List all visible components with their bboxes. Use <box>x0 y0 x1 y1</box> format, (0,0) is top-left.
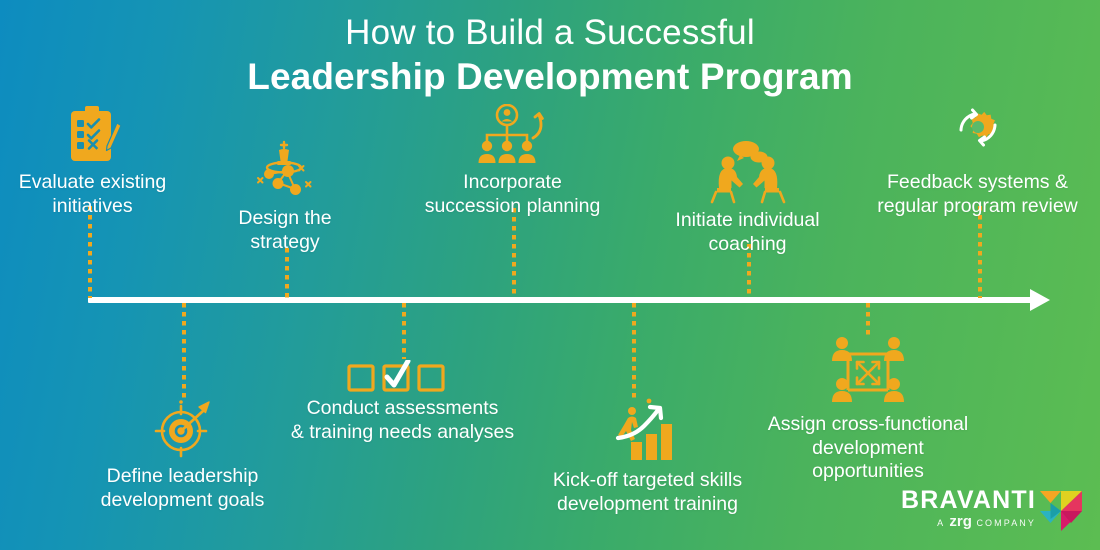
step-label: Design the strategy <box>195 207 375 254</box>
step-label: Kick-off targeted skills development tra… <box>540 469 755 516</box>
step-incorporate-succession-planning: Incorporate succession planning <box>415 104 610 218</box>
arrow-right-icon <box>1030 289 1050 311</box>
connector-step-5 <box>512 208 516 298</box>
logo-tagline-post: COMPANY <box>972 518 1036 528</box>
logo-tagline-pre: A <box>937 518 949 528</box>
step-evaluate-existing-initiatives: Evaluate existing initiatives <box>0 104 185 218</box>
connector-step-1 <box>88 206 92 298</box>
connector-step-6 <box>632 303 636 399</box>
step-design-the-strategy: Design the strategy <box>195 140 375 254</box>
logo-tagline: A zrg COMPANY <box>901 515 1036 530</box>
clipboard-checklist-icon <box>0 104 185 166</box>
growth-chart-person-icon <box>540 398 755 464</box>
step-conduct-assessments: Conduct assessments & training needs ana… <box>290 360 515 444</box>
step-label: Initiate individual coaching <box>660 209 835 256</box>
org-chart-succession-icon <box>415 104 610 166</box>
connector-step-2 <box>182 303 186 401</box>
step-kickoff-skills-training: Kick-off targeted skills development tra… <box>540 398 755 516</box>
gear-cycle-arrows-icon <box>870 104 1085 166</box>
logo-tagline-brand: zrg <box>949 513 972 530</box>
chess-king-strategy-icon <box>195 140 375 202</box>
bravanti-logo: BRAVANTI A zrg COMPANY <box>901 487 1084 538</box>
step-feedback-systems-program-review: Feedback systems & regular program revie… <box>870 104 1085 218</box>
page-title: How to Build a Successful Leadership Dev… <box>0 12 1100 99</box>
cross-functional-team-icon <box>758 336 978 408</box>
step-define-leadership-goals: Define leadership development goals <box>90 398 275 512</box>
title-line-1: How to Build a Successful <box>0 12 1100 54</box>
connector-step-9 <box>978 206 982 298</box>
step-label: Feedback systems & regular program revie… <box>870 171 1085 218</box>
step-assign-cross-functional: Assign cross-functional development oppo… <box>758 336 978 484</box>
checkbox-row-checked-icon <box>290 360 515 392</box>
connector-step-3 <box>285 248 289 298</box>
step-label: Incorporate succession planning <box>415 171 610 218</box>
connector-step-8 <box>866 303 870 339</box>
step-label: Define leadership development goals <box>90 465 275 512</box>
step-label: Evaluate existing initiatives <box>0 171 185 218</box>
step-label: Assign cross-functional development oppo… <box>758 413 978 484</box>
pinwheel-logo-icon <box>1038 489 1084 538</box>
step-label: Conduct assessments & training needs ana… <box>290 397 515 444</box>
connector-step-4 <box>402 303 406 359</box>
logo-name: BRAVANTI <box>901 487 1036 514</box>
infographic-canvas: How to Build a Successful Leadership Dev… <box>0 0 1100 550</box>
two-people-coaching-icon <box>660 140 835 204</box>
target-bullseye-arrow-icon <box>90 398 275 460</box>
title-line-2: Leadership Development Program <box>0 54 1100 99</box>
step-initiate-individual-coaching: Initiate individual coaching <box>660 140 835 256</box>
timeline-axis <box>88 297 1038 303</box>
logo-text-block: BRAVANTI A zrg COMPANY <box>901 487 1038 530</box>
